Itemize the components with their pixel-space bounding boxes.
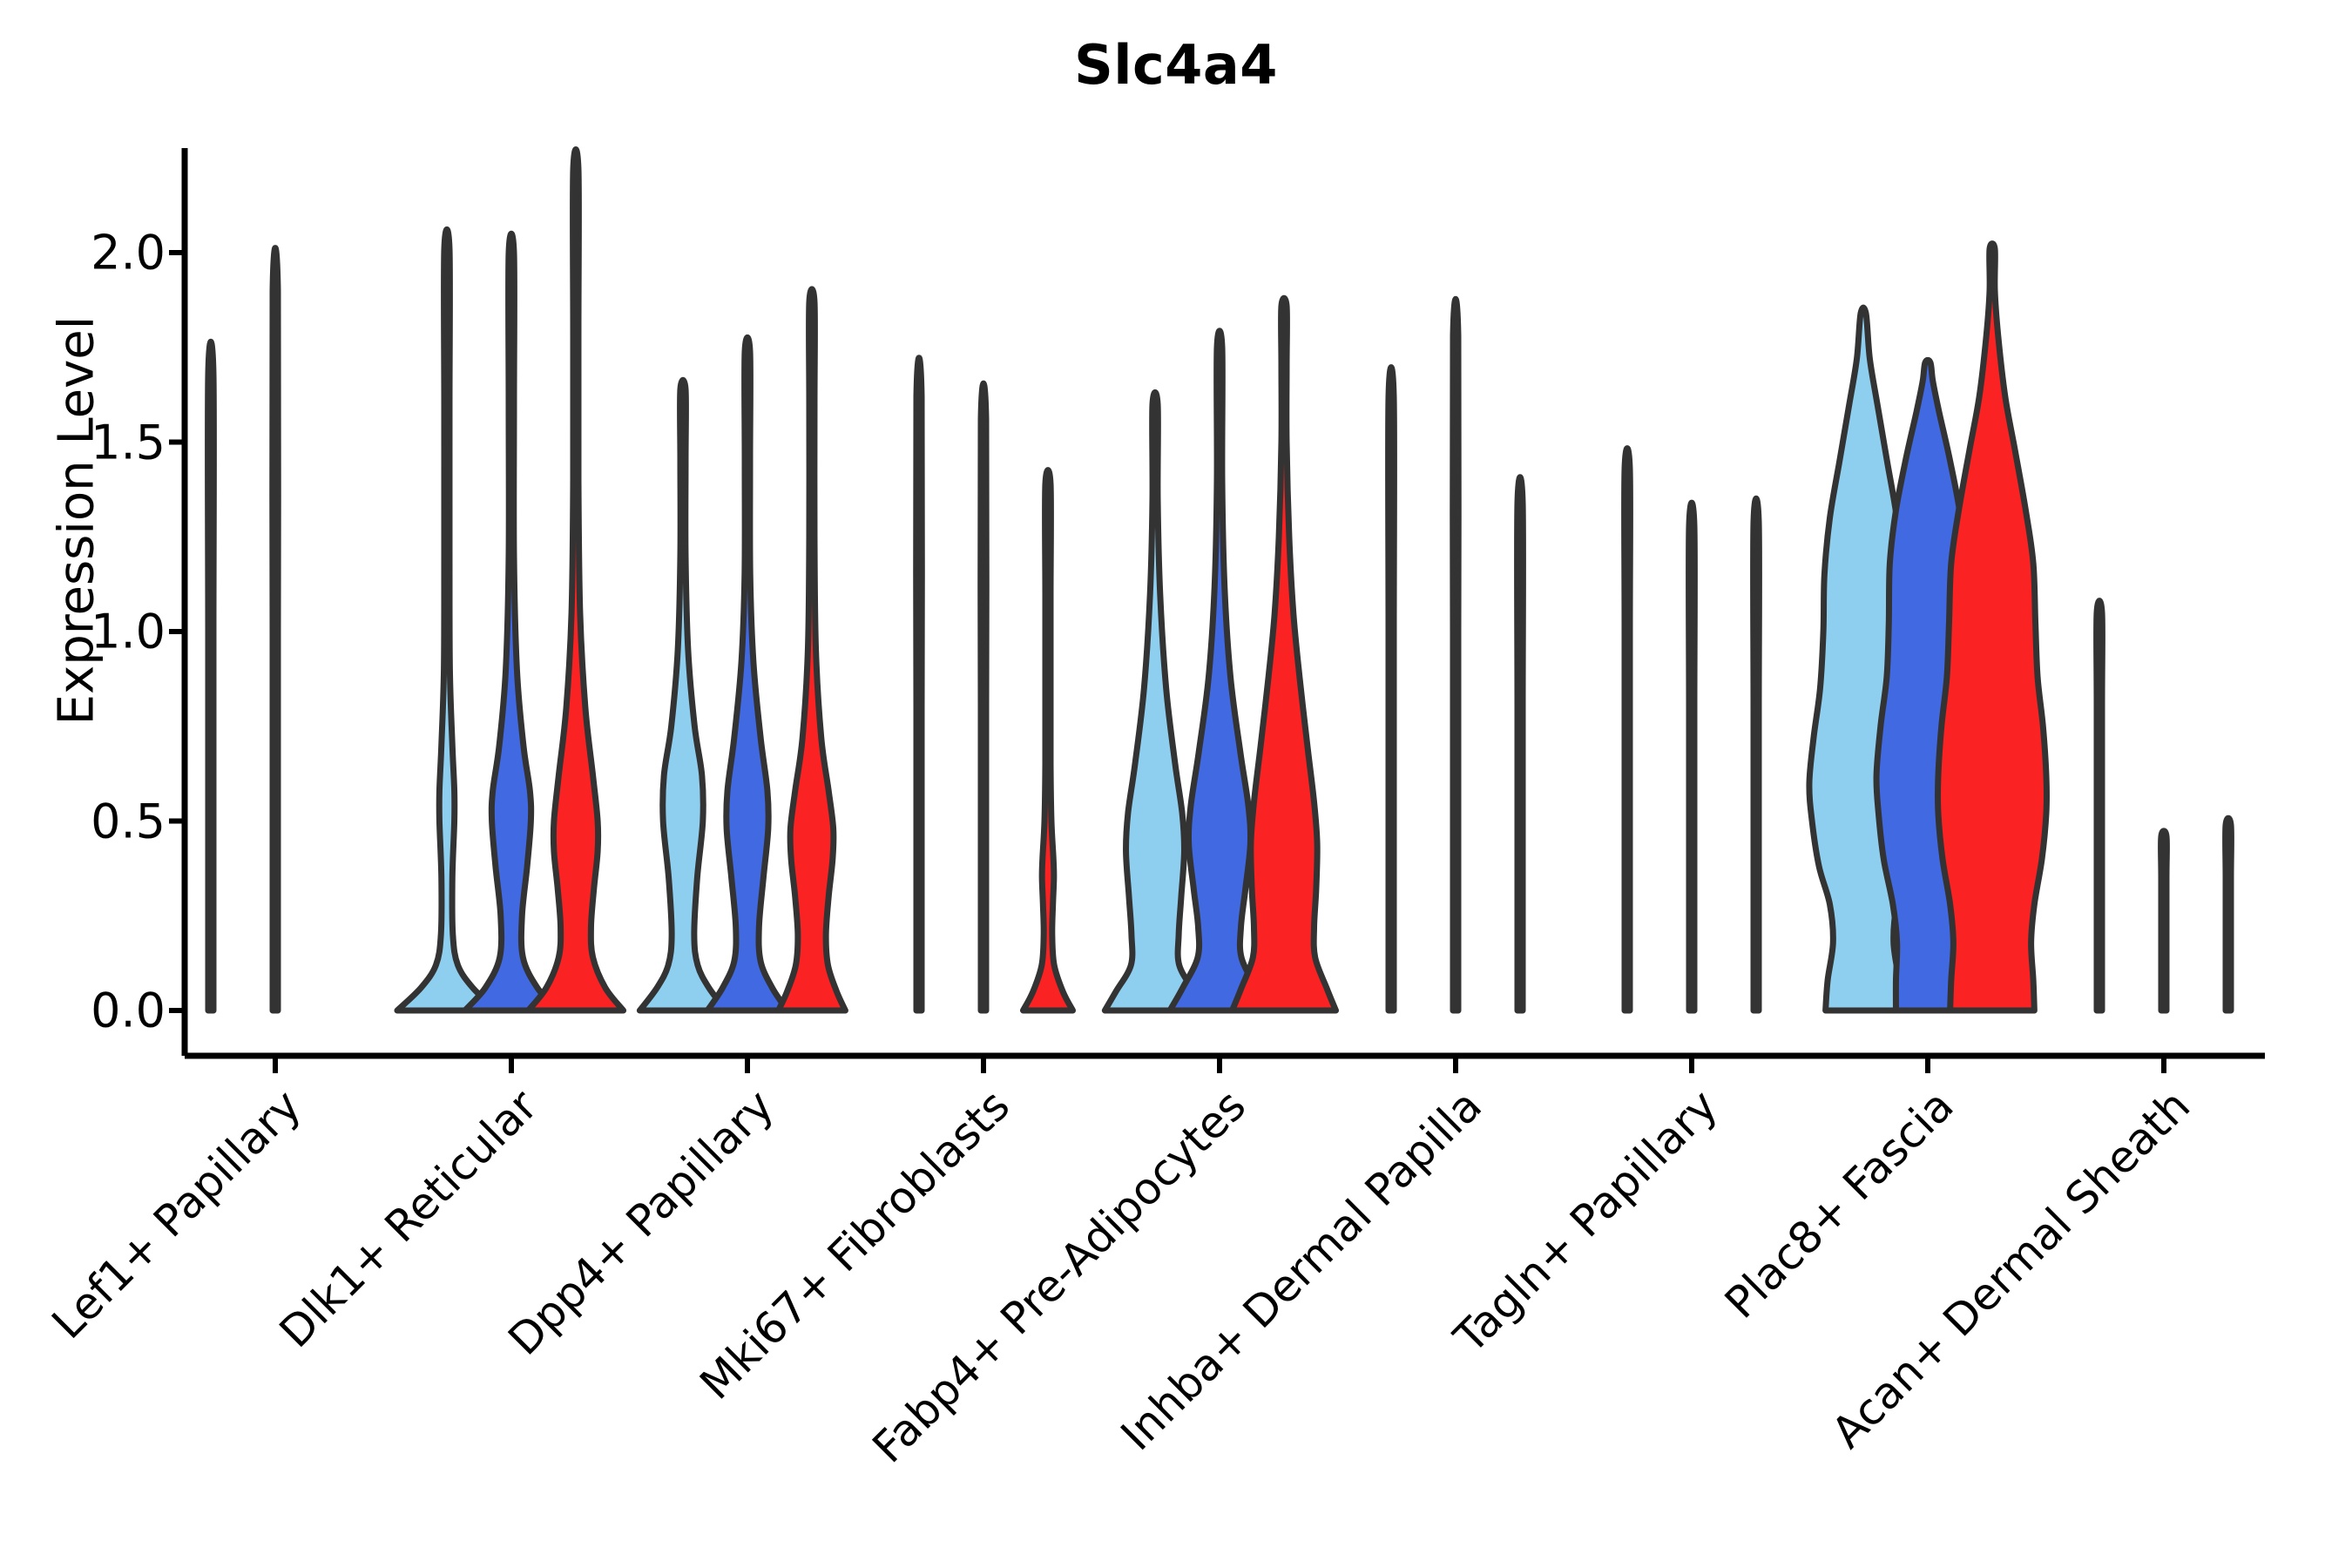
violin-shape [528,149,623,1010]
violin-shape [2226,818,2232,1010]
violin-shape [465,233,558,1010]
violin-shape [779,289,846,1010]
plot-canvas [0,0,2352,1568]
violin-shape [639,380,726,1010]
violin-shape [1937,244,2046,1010]
violin-shape [273,248,279,1010]
violin-shape [1517,477,1524,1010]
violin-shape [1023,470,1072,1010]
violin-shape [2097,601,2103,1010]
violin-shape [707,337,787,1010]
violin-shape [397,229,497,1010]
violins-layer [208,149,2232,1010]
violin-shape [1232,298,1335,1010]
violin-shape [1625,449,1631,1010]
violin-shape [981,383,987,1010]
violin-plot-figure: Slc4a4 Expression Level 0.00.51.01.52.0 … [0,0,2352,1568]
violin-shape [1389,368,1395,1010]
violin-shape [1105,392,1205,1010]
violin-shape [1754,498,1760,1010]
violin-shape [916,358,923,1010]
violin-shape [1689,503,1695,1010]
violin-shape [1453,299,1459,1010]
violin-shape [2161,831,2167,1010]
violin-shape [208,341,214,1010]
